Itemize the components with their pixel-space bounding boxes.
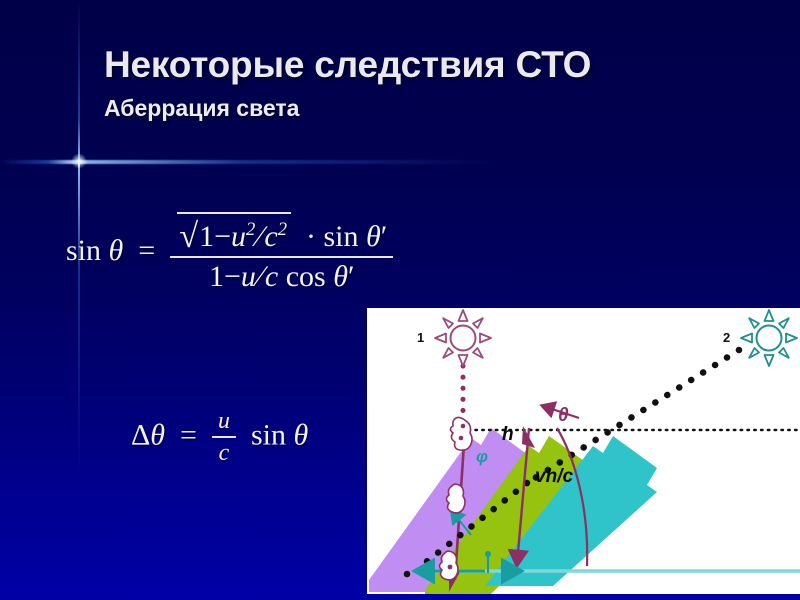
telescope-middle [447,484,466,513]
sparkle-horizontal-beam [0,160,800,164]
formula2-equals: = [173,418,205,451]
slide-canvas: Некоторые следствия СТО Аберрация света … [0,0,800,600]
formula1-equals: = [131,234,163,267]
formula1-fraction: √1−u2∕c2 · sin θ′ 1−u∕c cos θ′ [170,212,393,294]
radical-sign-icon: √ [179,217,198,255]
telescope-bottom [440,551,459,580]
formula-delta-theta: Δθ = u c sin θ [131,408,308,467]
aberration-diagram: 1 2 vh/c h θ φ [367,308,800,594]
label-vh-over-c: vh/c [535,466,573,488]
formula1-dot: · [298,220,323,253]
formula2-lhs: Δθ [131,418,165,451]
formula2-numerator: u [212,408,236,436]
star-1-icon [435,310,491,366]
page-subtitle: Аберрация света [104,95,299,122]
formula2-denominator: c [212,436,236,467]
formula1-numerator: √1−u2∕c2 · sin θ′ [170,212,393,256]
label-phi: φ [476,447,488,467]
formula1-lhs: sin θ [66,234,123,267]
sparkle-vertical-beam [78,0,80,600]
formula2-rhs: sin θ [243,418,308,451]
label-h: h [502,424,514,446]
phi-tick-dot [485,551,491,557]
radical-expression: √1−u2∕c2 [177,212,291,255]
ray-dot-extra [404,571,411,578]
label-theta: θ [558,405,569,427]
star-2-label: 2 [723,330,730,345]
star-2-icon [741,310,797,366]
sparkle-core-icon [71,153,87,169]
star-1-label: 1 [417,330,424,345]
diagram-svg [367,308,800,594]
page-title: Некоторые следствия СТО [104,44,591,86]
formula-aberration: sin θ = √1−u2∕c2 · sin θ′ 1−u∕c cos θ′ [66,212,393,294]
formula1-denominator: 1−u∕c cos θ′ [170,256,393,294]
telescope-top [451,417,473,450]
formula2-fraction: u c [212,408,236,467]
